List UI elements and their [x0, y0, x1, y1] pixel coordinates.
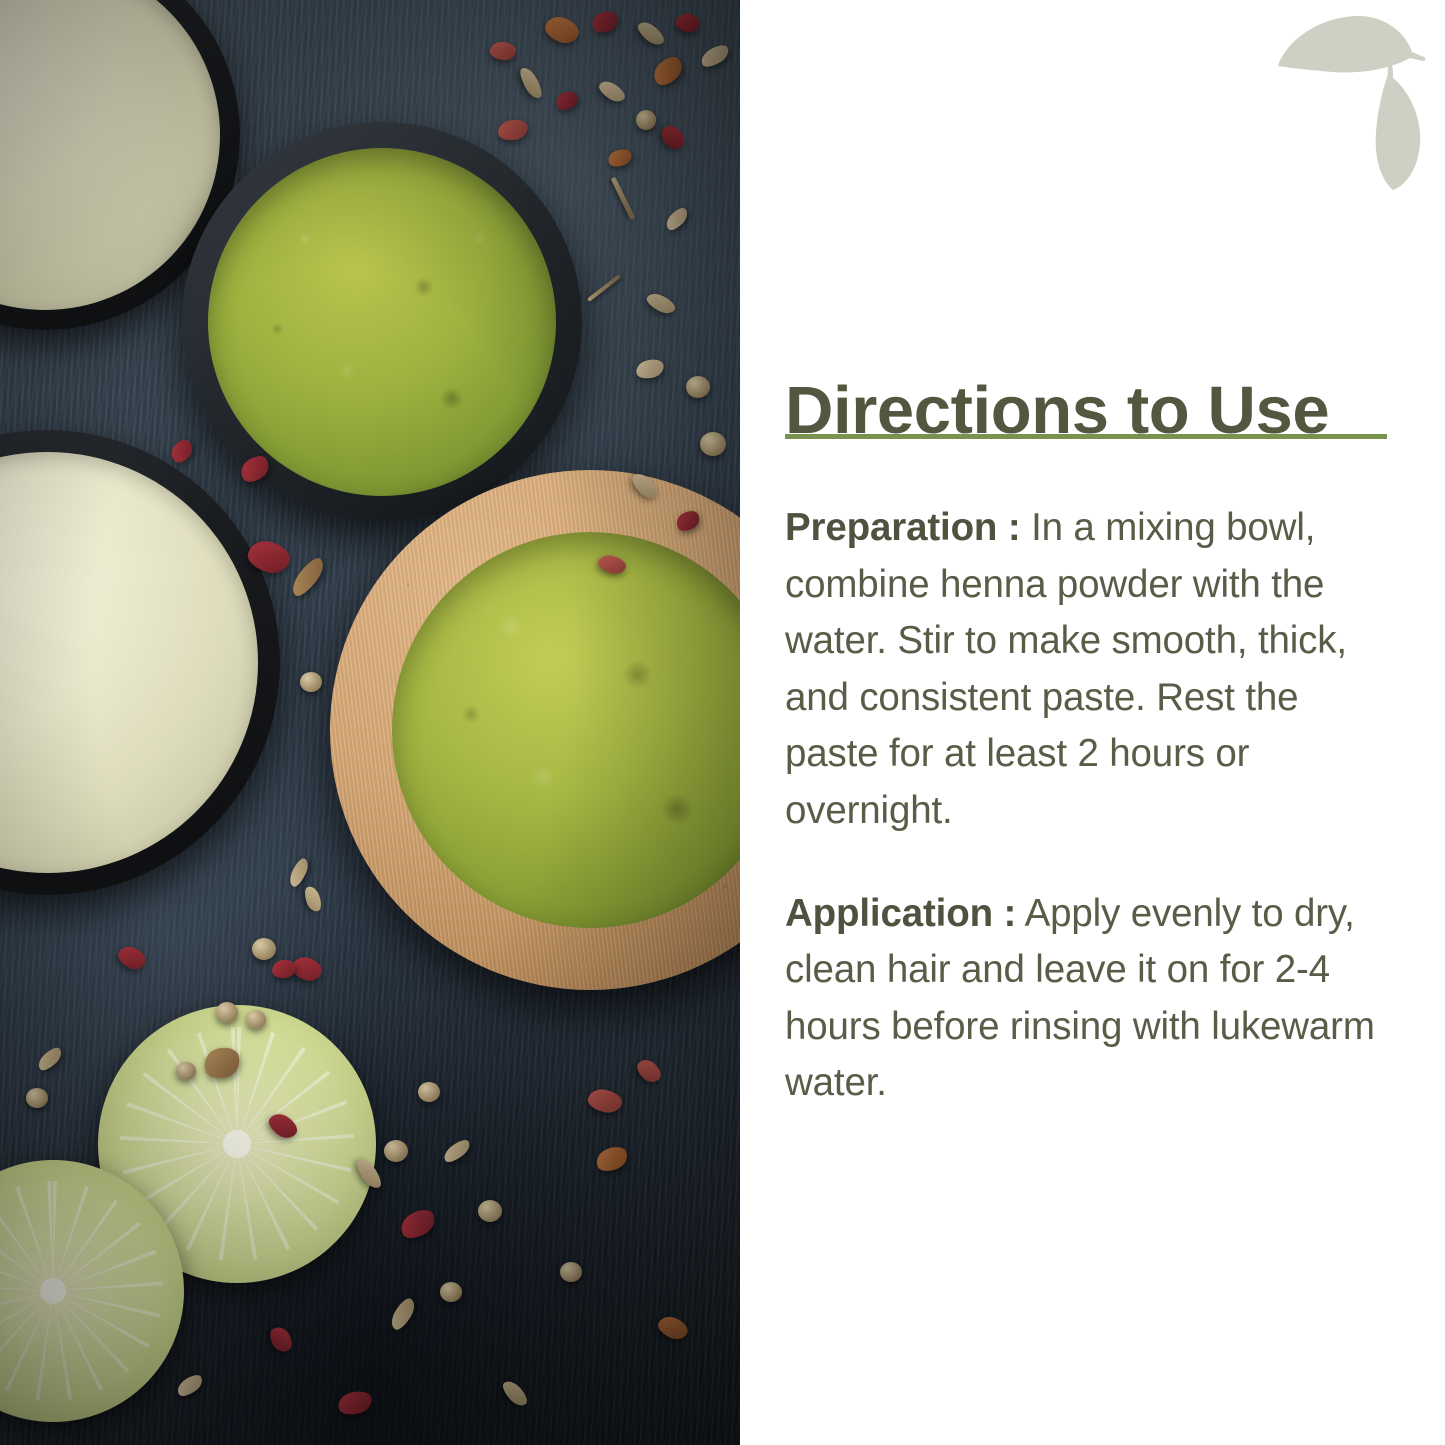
dried-flower-bud [252, 938, 276, 960]
leaf-icon [1278, 16, 1425, 73]
dried-flower-bud [300, 672, 322, 692]
product-photo [0, 0, 740, 1445]
lime-segments [0, 1181, 163, 1401]
dried-flower-bud [384, 1140, 408, 1162]
leaf-icon [1376, 65, 1421, 190]
instruction-label: Application : [785, 892, 1016, 935]
instruction-paragraph: Preparation : In a mixing bowl, combine … [785, 500, 1389, 840]
dried-flower-bud [176, 1062, 196, 1080]
dried-flower-bud [440, 1282, 462, 1302]
lime-core [40, 1278, 66, 1304]
leaf-mark [1260, 8, 1440, 193]
content-panel: Directions to Use Preparation : In a mix… [740, 0, 1445, 1445]
instruction-label: Preparation : [785, 506, 1021, 549]
dried-flower-bud [418, 1082, 440, 1102]
henna-powder-ceramic-bowl [182, 122, 582, 522]
dried-flower-bud [216, 1002, 238, 1023]
dried-flower-bud [26, 1088, 48, 1108]
dried-flower-bud [478, 1200, 502, 1222]
instructions-list: Preparation : In a mixing bowl, combine … [785, 500, 1389, 1112]
powder-texture [182, 122, 582, 522]
dried-flower-bud [700, 432, 726, 456]
title-divider [785, 434, 1387, 439]
instruction-text: In a mixing bowl, combine henna powder w… [785, 506, 1347, 832]
dried-flower-bud [246, 1010, 266, 1029]
dried-flower-bud [560, 1262, 582, 1282]
directions-to-use-card: Directions to Use Preparation : In a mix… [0, 0, 1445, 1445]
dried-flower-bud [686, 376, 710, 398]
dried-flower-bud [636, 110, 656, 130]
instruction-paragraph: Application : Apply evenly to dry, clean… [785, 886, 1389, 1112]
lime-core [223, 1130, 251, 1158]
